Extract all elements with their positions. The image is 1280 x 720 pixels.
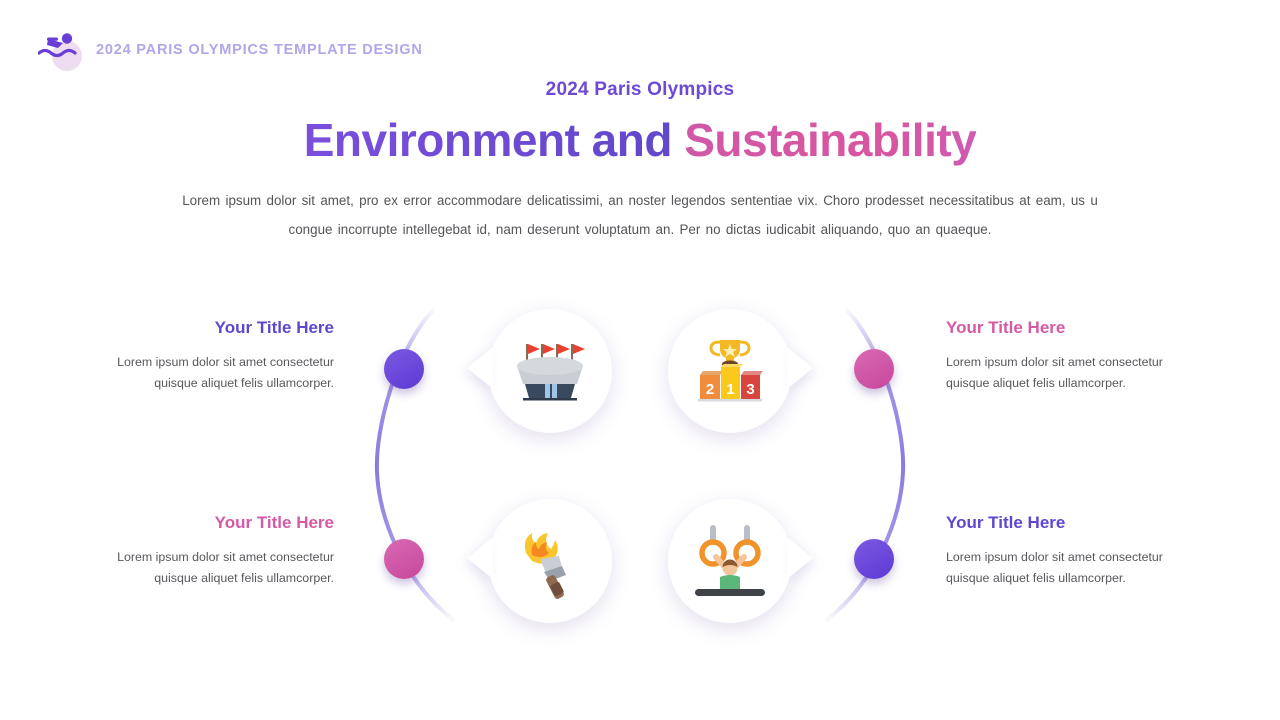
item-text-bottom-left: Your Title Here Lorem ipsum dolor sit am… bbox=[84, 513, 334, 589]
brand-title: 2024 PARIS OLYMPICS TEMPLATE DESIGN bbox=[96, 42, 423, 58]
lead-paragraph: Lorem ipsum dolor sit amet, pro ex error… bbox=[160, 186, 1120, 244]
node-top-left[interactable] bbox=[384, 349, 424, 389]
winners-podium-icon: 2 1 3 bbox=[690, 334, 770, 408]
item-text-bottom-right: Your Title Here Lorem ipsum dolor sit am… bbox=[946, 513, 1196, 589]
icon-bubble-torch[interactable] bbox=[488, 499, 612, 623]
item-title-top-right: Your Title Here bbox=[946, 318, 1196, 338]
node-bottom-right[interactable] bbox=[854, 539, 894, 579]
item-body-bottom-left: Lorem ipsum dolor sit amet consectetur q… bbox=[84, 547, 334, 589]
slide-canvas: 2024 PARIS OLYMPICS TEMPLATE DESIGN 2024… bbox=[0, 0, 1280, 720]
item-body-bottom-right: Lorem ipsum dolor sit amet consectetur q… bbox=[946, 547, 1196, 589]
page-title: Environment and Sustainability bbox=[0, 113, 1280, 167]
swimmer-icon bbox=[38, 28, 84, 72]
gymnast-rings-icon bbox=[689, 523, 771, 599]
page-title-part-b: Sustainability bbox=[684, 114, 976, 166]
item-title-bottom-right: Your Title Here bbox=[946, 513, 1196, 533]
page-title-part-a: Environment and bbox=[304, 114, 684, 166]
item-text-top-left: Your Title Here Lorem ipsum dolor sit am… bbox=[84, 318, 334, 394]
swimmer-glyph bbox=[38, 30, 78, 64]
podium-label-third: 3 bbox=[746, 381, 754, 398]
stadium-icon bbox=[511, 336, 589, 406]
node-bottom-left[interactable] bbox=[384, 539, 424, 579]
infographic-diagram: 2 1 3 bbox=[355, 290, 925, 635]
node-top-right[interactable] bbox=[854, 349, 894, 389]
icon-bubble-stadium[interactable] bbox=[488, 309, 612, 433]
olympic-torch-icon bbox=[512, 523, 588, 599]
item-title-bottom-left: Your Title Here bbox=[84, 513, 334, 533]
eyebrow-text: 2024 Paris Olympics bbox=[0, 79, 1280, 101]
icon-bubble-gymnast[interactable] bbox=[668, 499, 792, 623]
connector-arcs bbox=[355, 290, 925, 635]
icon-bubble-podium[interactable]: 2 1 3 bbox=[668, 309, 792, 433]
podium-label-second: 2 bbox=[706, 381, 714, 398]
brand-header: 2024 PARIS OLYMPICS TEMPLATE DESIGN bbox=[38, 28, 423, 72]
item-body-top-left: Lorem ipsum dolor sit amet consectetur q… bbox=[84, 352, 334, 394]
podium-label-first: 1 bbox=[726, 381, 734, 398]
item-body-top-right: Lorem ipsum dolor sit amet consectetur q… bbox=[946, 352, 1196, 394]
item-title-top-left: Your Title Here bbox=[84, 318, 334, 338]
item-text-top-right: Your Title Here Lorem ipsum dolor sit am… bbox=[946, 318, 1196, 394]
